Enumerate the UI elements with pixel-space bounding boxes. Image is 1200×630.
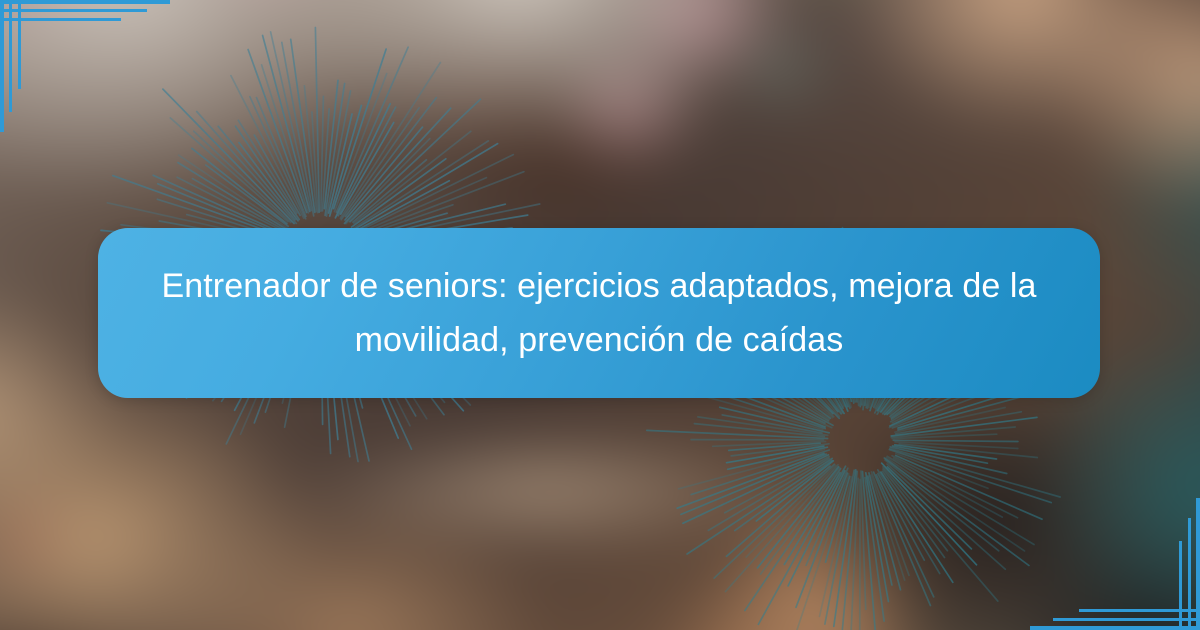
headline-card: Entrenador de seniors: ejercicios adapta… (98, 228, 1100, 398)
social-card-canvas: Entrenador de seniors: ejercicios adapta… (0, 0, 1200, 630)
headline-title: Entrenador de seniors: ejercicios adapta… (98, 259, 1100, 368)
